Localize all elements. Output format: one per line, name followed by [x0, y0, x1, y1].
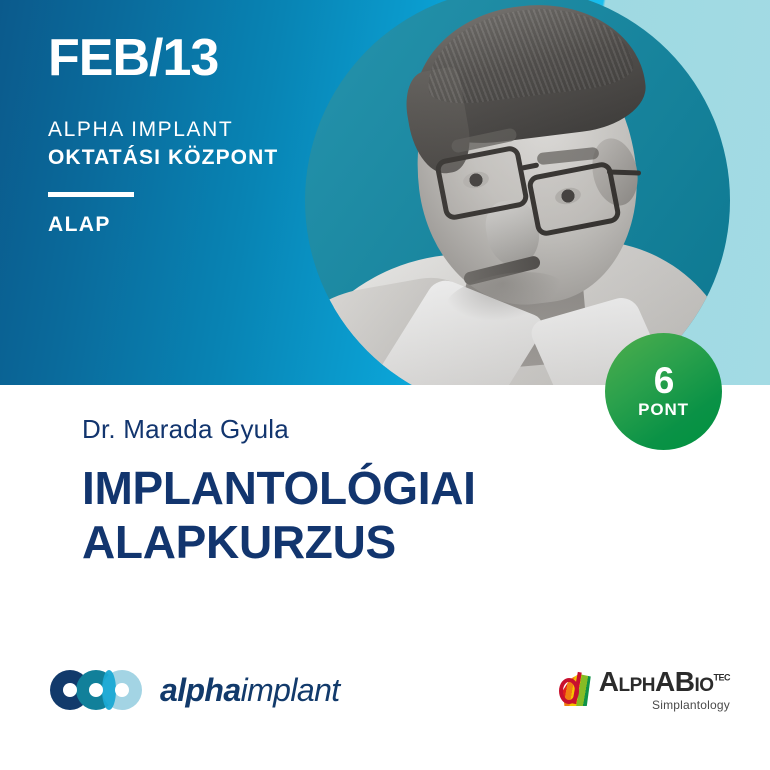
course-title-line-2: ALAPKURZUS	[82, 515, 682, 569]
course-details: Dr. Marada Gyula IMPLANTOLÓGIAI ALAPKURZ…	[82, 414, 682, 570]
alphaimplant-word-alpha: alpha	[160, 672, 241, 708]
presenter-name: Dr. Marada Gyula	[82, 414, 682, 445]
divider-rule	[48, 192, 134, 197]
alphaimplant-logo: alphaimplant	[50, 670, 340, 710]
ring-hole-2-icon	[89, 683, 103, 697]
ring-overlap-icon	[102, 670, 116, 710]
ring-hole-1-icon	[63, 683, 77, 697]
organization-line-1: ALPHA IMPLANT	[48, 116, 278, 144]
alphabio-mark-icon	[559, 672, 593, 708]
course-title-line-1: IMPLANTOLÓGIAI	[82, 461, 682, 515]
alphabio-letters-io: IO	[694, 675, 713, 696]
ring-hole-3-icon	[115, 683, 129, 697]
alphabio-letter-a1: A	[599, 666, 619, 697]
organization-line-2: OKTATÁSI KÖZPONT	[48, 144, 278, 172]
credit-point-value: 6	[654, 363, 674, 398]
credit-point-badge: 6 PONT	[605, 333, 722, 450]
alphabio-wordmark: ALPHABIOTEC	[599, 668, 730, 696]
alphabio-suffix-tec: TEC	[714, 673, 731, 683]
alphaimplant-rings-icon	[50, 670, 142, 710]
alphabio-letter-b: B	[675, 666, 695, 697]
alphabio-text-block: ALPHABIOTEC Simplantology	[599, 668, 730, 712]
alphabio-logo: ALPHABIOTEC Simplantology	[559, 668, 730, 712]
alphaimplant-wordmark: alphaimplant	[160, 672, 340, 709]
credit-point-unit: PONT	[638, 400, 689, 420]
header-text-block: FEB/13 ALPHA IMPLANT OKTATÁSI KÖZPONT AL…	[48, 32, 278, 237]
alphabio-tagline: Simplantology	[599, 698, 730, 712]
alphaimplant-word-implant: implant	[241, 672, 340, 708]
event-date: FEB/13	[48, 32, 278, 84]
header-band: FEB/13 ALPHA IMPLANT OKTATÁSI KÖZPONT AL…	[0, 0, 770, 385]
alphabio-letters-lph: LPH	[618, 675, 655, 696]
portrait-photo	[305, 0, 730, 385]
portrait-disc	[305, 0, 730, 385]
footer-bar: alphaimplant ALPHABIOTEC Simplantology	[0, 662, 770, 770]
course-level-label: ALAP	[48, 213, 278, 237]
alphabio-letter-a2: A	[655, 666, 675, 697]
